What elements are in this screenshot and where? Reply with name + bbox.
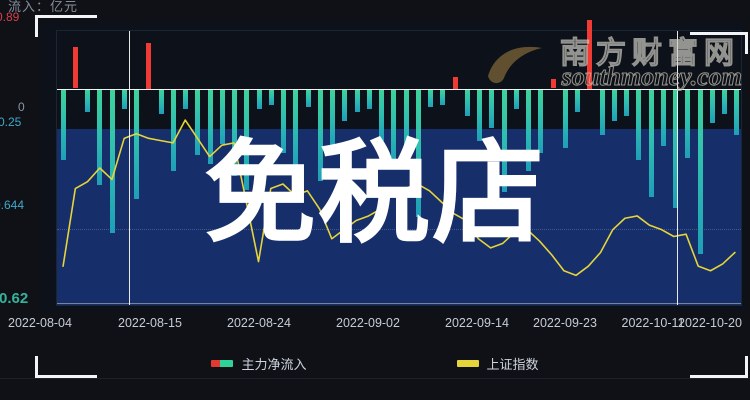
legend-label-netinflow: 主力净流入 [241,354,306,373]
zero-baseline [57,89,741,90]
screenshot-root: 流入：亿元 -0.89 0 -0.25 -0.644 -0.62 [0,0,750,400]
legend-swatch-netinflow-icon [211,360,233,367]
legend-label-index: 上证指数 [487,354,539,373]
lower-crosshair-horizontal [57,303,741,304]
x-axis-tick-label: 2022-09-14 [445,316,509,330]
legend-item-netinflow[interactable]: 主力净流入 [211,354,306,373]
bottom-divider [0,378,750,379]
chart-legend: 主力净流入 上证指数 [0,352,750,374]
x-axis-tick-label: 2022-09-23 [533,316,597,330]
x-axis-tick-label: 2022-10-11 [621,316,684,330]
y-axis-label-quarter: -0.25 [0,115,21,129]
y-axis-label-top: -0.89 [0,10,19,24]
selection-bracket-bottom-right[interactable] [690,356,748,378]
legend-item-index[interactable]: 上证指数 [457,354,539,373]
legend-swatch-index-icon [457,360,479,367]
y-axis-label-bottom: -0.62 [0,290,28,307]
selection-bracket-bottom-left[interactable] [35,356,97,378]
y-axis-label-zero: 0 [18,100,25,114]
x-axis-tick-label: 2022-08-04 [8,316,72,330]
x-axis-tick-label: 2022-10-20 [678,316,742,330]
overlay-title: 免税店 [0,138,750,250]
selection-bracket-top-left[interactable] [35,15,97,37]
x-axis-tick-label: 2022-08-15 [118,316,182,330]
selection-bracket-top-right[interactable] [690,32,748,54]
x-axis-tick-label: 2022-09-02 [336,316,400,330]
x-axis-labels: 2022-08-042022-08-152022-08-242022-09-02… [0,316,750,334]
x-axis-tick-label: 2022-08-24 [227,316,291,330]
